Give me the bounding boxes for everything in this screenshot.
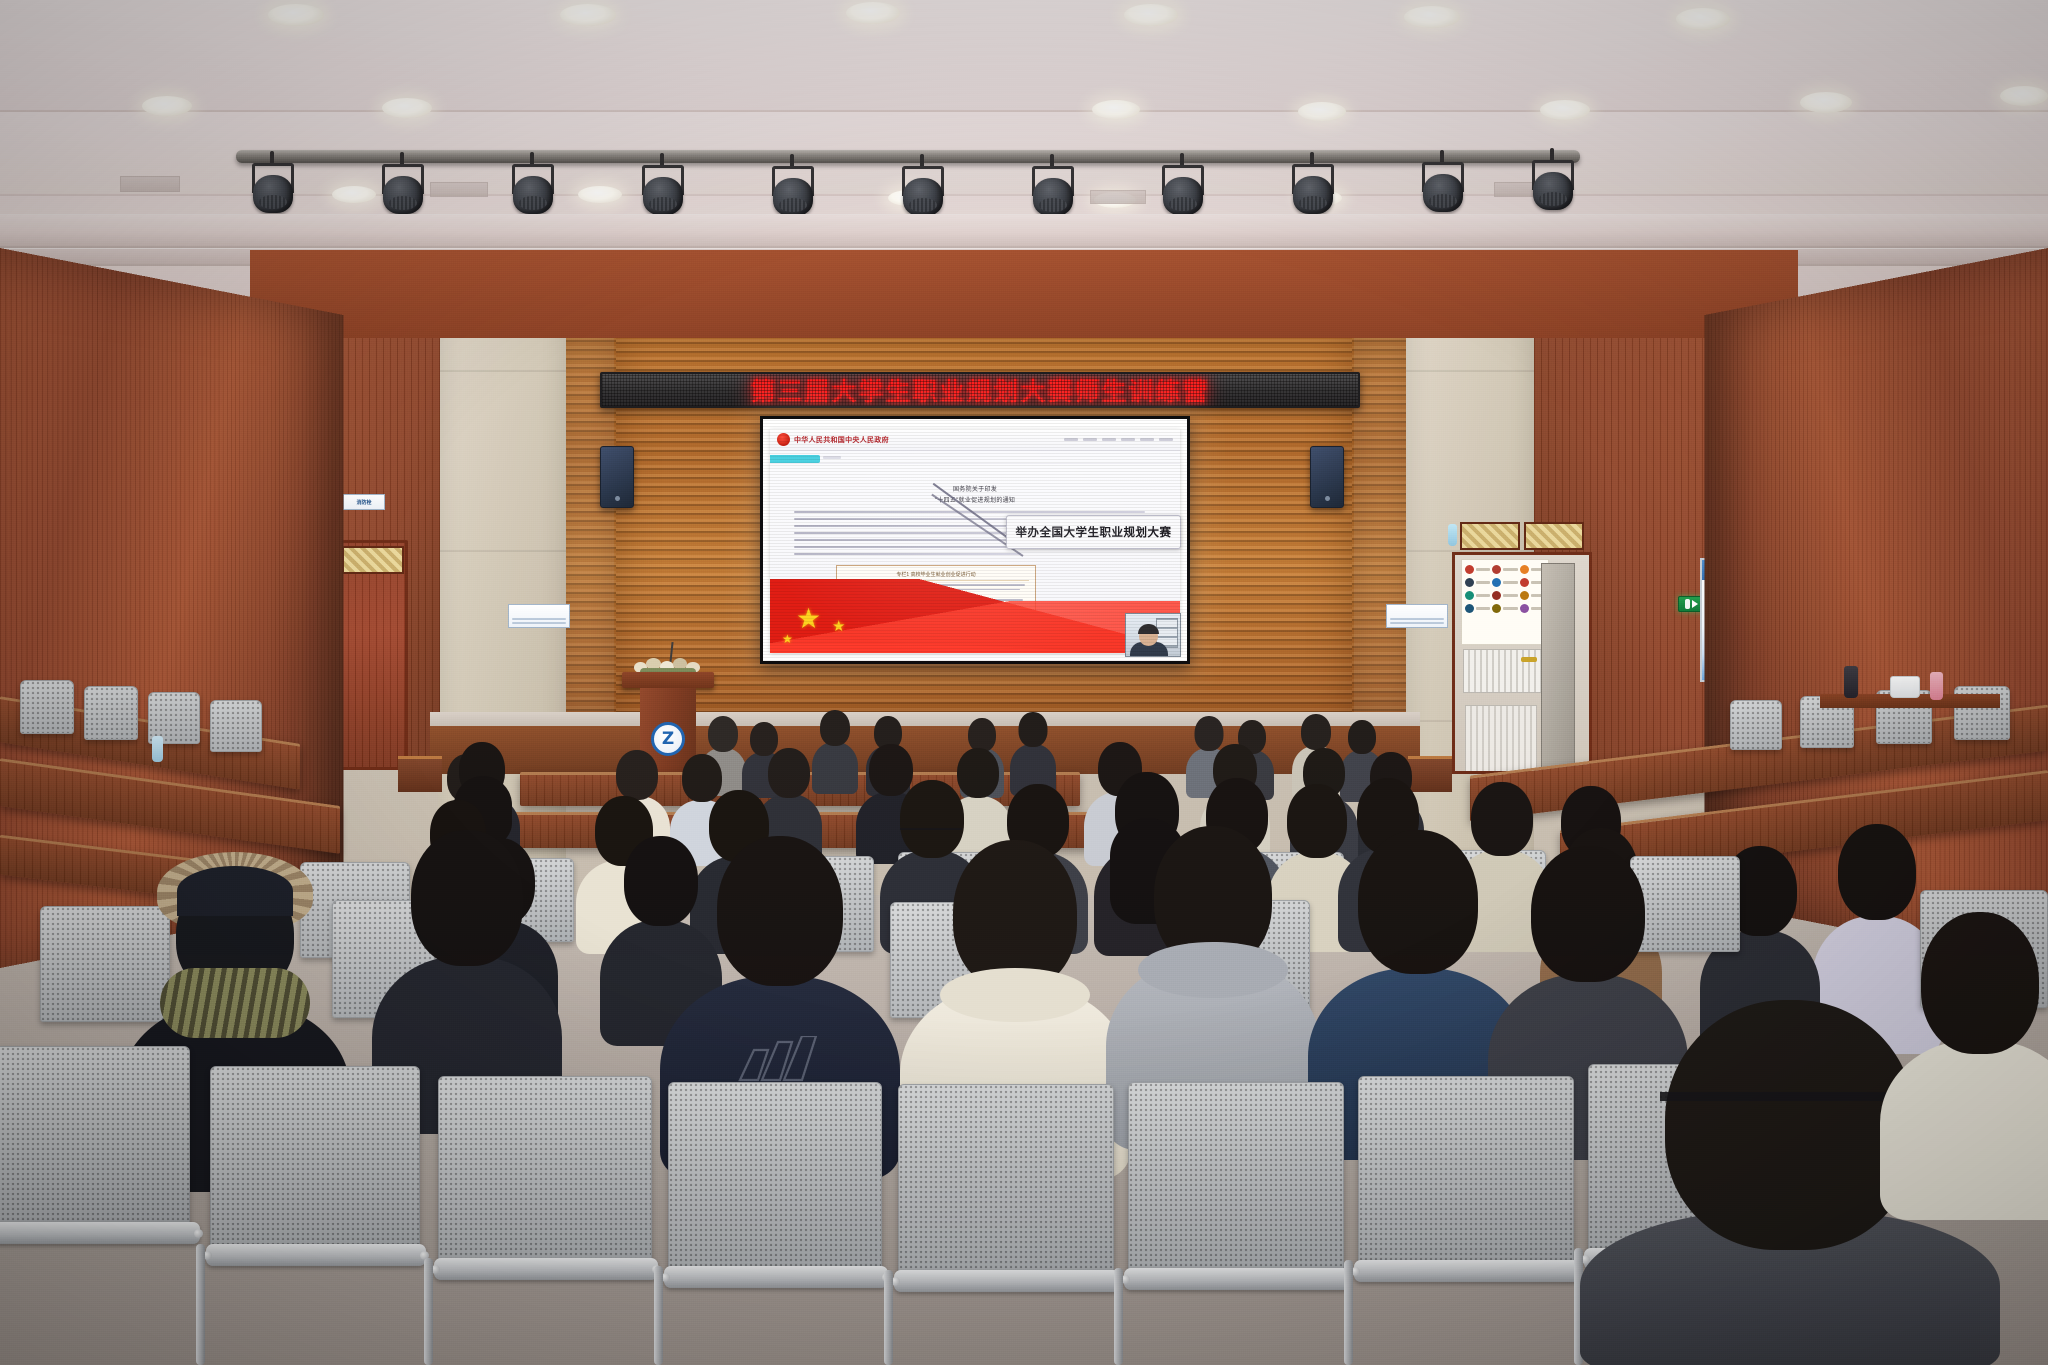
downlight bbox=[1404, 6, 1460, 28]
radiator-far bbox=[1465, 705, 1537, 773]
auditorium-photo: 消防栓 bbox=[0, 0, 2048, 1365]
stage-par-light bbox=[770, 166, 816, 218]
downlight bbox=[1540, 100, 1590, 120]
downlight bbox=[846, 2, 900, 24]
stage-par-light bbox=[1030, 166, 1076, 218]
stage-par-light bbox=[900, 166, 946, 218]
seat-armrest-rail bbox=[206, 1244, 426, 1266]
sponsor-logo bbox=[1465, 590, 1490, 601]
sponsor-logo bbox=[1465, 577, 1490, 588]
eyeglasses bbox=[1660, 1092, 1890, 1101]
side-seat-left[interactable] bbox=[20, 680, 74, 734]
exit-arrow-icon bbox=[1692, 600, 1698, 608]
national-emblem-icon bbox=[777, 433, 790, 446]
seat-support-leg bbox=[1344, 1260, 1353, 1365]
person-head bbox=[1301, 714, 1331, 750]
ceiling-vent bbox=[430, 182, 488, 197]
side-seat-right[interactable] bbox=[1730, 700, 1782, 750]
person-head bbox=[820, 710, 850, 746]
eyeglasses bbox=[900, 828, 962, 830]
seat-support-leg bbox=[654, 1266, 663, 1365]
person-body bbox=[1880, 1040, 2048, 1220]
pillar-sign-right-text bbox=[1390, 609, 1444, 616]
document-heading-line1: 国务院关于印发 bbox=[770, 485, 1180, 496]
downlight bbox=[560, 4, 616, 26]
seat-armrest-rail bbox=[434, 1258, 658, 1280]
person-head bbox=[717, 836, 843, 986]
par-can bbox=[643, 177, 683, 215]
water-bottle-desk bbox=[152, 736, 163, 762]
hoodie-hood bbox=[1138, 942, 1288, 998]
ceiling-vent bbox=[1090, 190, 1146, 204]
downlight bbox=[142, 96, 192, 116]
person-head bbox=[968, 718, 996, 752]
downlight bbox=[268, 4, 324, 26]
person-head bbox=[1531, 846, 1645, 982]
podium-top bbox=[622, 672, 714, 688]
seat-armrest-rail bbox=[0, 1222, 200, 1244]
person-head bbox=[1019, 712, 1048, 747]
downlight bbox=[382, 98, 432, 118]
seat-support-leg bbox=[884, 1270, 893, 1365]
person-head bbox=[616, 750, 658, 800]
pa-speaker-left bbox=[600, 446, 634, 508]
gov-site-nav bbox=[1064, 438, 1173, 441]
par-can bbox=[513, 176, 553, 214]
water-bottle-right bbox=[1930, 672, 1943, 700]
stone-seam bbox=[438, 370, 566, 372]
gov-site-header: 中华人民共和国中央人民政府 bbox=[770, 429, 1180, 451]
auditorium-seat-foreground[interactable] bbox=[1358, 1076, 1574, 1268]
downlight bbox=[1092, 100, 1140, 119]
person-head bbox=[1838, 824, 1916, 920]
person-head bbox=[411, 830, 523, 966]
par-can bbox=[903, 178, 943, 216]
tissue-box-right bbox=[1890, 676, 1920, 698]
water-bottle bbox=[1448, 524, 1457, 546]
downlight bbox=[1124, 4, 1178, 26]
par-can bbox=[1163, 177, 1203, 215]
pa-speaker-right bbox=[1310, 446, 1344, 508]
sponsor-logo bbox=[1492, 564, 1517, 575]
emblem-letter: Z bbox=[662, 731, 674, 748]
auditorium-seat-foreground[interactable] bbox=[0, 1046, 190, 1226]
running-man-icon bbox=[1685, 599, 1690, 609]
auditorium-seat-foreground[interactable] bbox=[438, 1076, 652, 1266]
sponsor-logo bbox=[1492, 603, 1517, 614]
document-heading: 国务院关于印发 "十四五"就业促进规划的通知 bbox=[770, 485, 1180, 508]
stage-par-light bbox=[380, 164, 426, 216]
stage-par-light bbox=[640, 165, 686, 217]
slide-callout-text: 举办全国大学生职业规划大赛 bbox=[1016, 524, 1172, 540]
lighting-truss-front bbox=[236, 150, 1580, 163]
downlight bbox=[1298, 102, 1346, 121]
sponsor-logo bbox=[1492, 590, 1517, 601]
par-can bbox=[1033, 178, 1073, 216]
door-right-open[interactable] bbox=[1452, 552, 1592, 774]
par-can bbox=[253, 175, 293, 213]
sponsor-logo-poster bbox=[1461, 559, 1549, 645]
projection-screen: 中华人民共和国中央人民政府 国务院关于印发 "十四五"就业促进规划的通知 专栏1… bbox=[760, 416, 1190, 664]
pillar-sign-right bbox=[1386, 604, 1448, 628]
stage-par-light bbox=[1290, 164, 1336, 216]
person-head bbox=[1358, 830, 1478, 974]
sponsor-logo bbox=[1465, 603, 1490, 614]
stage-par-light bbox=[250, 163, 296, 215]
downlight bbox=[2000, 86, 2048, 106]
flag-graphic: ★ ★ ★ bbox=[770, 579, 1180, 653]
stage-par-light bbox=[1160, 165, 1206, 217]
audience-member bbox=[1010, 712, 1056, 794]
upper-wood-band bbox=[250, 250, 1798, 338]
door-grille-right-2 bbox=[1524, 522, 1584, 550]
seat-armrest-rail bbox=[664, 1266, 888, 1288]
downlight bbox=[1800, 92, 1852, 113]
wall-sign-left-text: 消防栓 bbox=[347, 499, 381, 506]
video-conference-inset bbox=[1125, 613, 1181, 657]
gov-site-subnav bbox=[770, 451, 1180, 464]
ceiling-soffit bbox=[0, 214, 2048, 248]
sponsor-logo bbox=[1465, 564, 1490, 575]
sponsor-logo bbox=[1492, 577, 1517, 588]
flag-star-small: ★ bbox=[832, 619, 845, 634]
flag-star-small: ★ bbox=[782, 633, 793, 645]
cyan-highlight-tab bbox=[770, 455, 820, 463]
downlight bbox=[332, 186, 376, 203]
stage-par-light bbox=[1530, 160, 1576, 212]
gov-site-title: 中华人民共和国中央人民政府 bbox=[794, 435, 889, 445]
seat-armrest-rail bbox=[1354, 1260, 1580, 1282]
side-seat-left[interactable] bbox=[84, 686, 138, 740]
stone-seam bbox=[1406, 370, 1534, 372]
par-can bbox=[1533, 172, 1573, 210]
beanie bbox=[177, 866, 293, 916]
door-grille-left-2 bbox=[342, 546, 404, 574]
side-seat-left[interactable] bbox=[210, 700, 262, 752]
downlight bbox=[578, 186, 622, 203]
seat-support-leg bbox=[196, 1244, 205, 1365]
stage-par-light bbox=[510, 164, 556, 216]
flag-star-large: ★ bbox=[796, 605, 821, 633]
door-grille-right bbox=[1460, 522, 1520, 550]
stone-seam bbox=[438, 550, 566, 552]
seat-support-leg bbox=[424, 1258, 433, 1365]
pillar-sign-left-text bbox=[512, 609, 566, 616]
seat-support-leg bbox=[1114, 1268, 1123, 1365]
person-head bbox=[1665, 1000, 1915, 1250]
led-banner: 第三届大学生职业规划大赛师生训练营 bbox=[600, 372, 1360, 408]
door-handle[interactable] bbox=[1521, 657, 1537, 662]
par-can bbox=[1293, 176, 1333, 214]
pillar-sign-left bbox=[508, 604, 570, 628]
thermos-right bbox=[1844, 666, 1858, 698]
slide-callout: 举办全国大学生职业规划大赛 bbox=[1006, 515, 1181, 549]
par-can bbox=[383, 176, 423, 214]
stage-slat-wall-right bbox=[1352, 338, 1412, 720]
audience-member-foreground-right-edge bbox=[1880, 912, 2048, 1212]
document-heading-line2: "十四五"就业促进规划的通知 bbox=[770, 496, 1180, 507]
downlight bbox=[1676, 8, 1730, 30]
seat-armrest-rail bbox=[894, 1270, 1120, 1292]
striped-scarf bbox=[160, 968, 310, 1038]
door-leaf-open[interactable] bbox=[1541, 563, 1575, 773]
auditorium-seat-foreground[interactable] bbox=[668, 1082, 882, 1272]
auditorium-seat-foreground[interactable] bbox=[210, 1066, 420, 1252]
person-head bbox=[708, 716, 738, 752]
radiator bbox=[1463, 649, 1547, 693]
coat-collar bbox=[940, 968, 1090, 1022]
led-banner-text: 第三届大学生职业规划大赛师生训练营 bbox=[750, 372, 1209, 408]
person-head bbox=[1921, 912, 2039, 1054]
auditorium-seat-foreground[interactable] bbox=[898, 1084, 1114, 1276]
ceiling-vent bbox=[120, 176, 180, 192]
auditorium-seat-foreground[interactable] bbox=[1128, 1082, 1344, 1274]
par-can bbox=[1423, 174, 1463, 212]
seat-armrest-rail bbox=[1124, 1268, 1350, 1290]
par-can bbox=[773, 178, 813, 216]
slide-content: 中华人民共和国中央人民政府 国务院关于印发 "十四五"就业促进规划的通知 专栏1… bbox=[763, 419, 1187, 661]
stage-par-light bbox=[1420, 162, 1466, 214]
wall-sign-left: 消防栓 bbox=[343, 494, 385, 510]
